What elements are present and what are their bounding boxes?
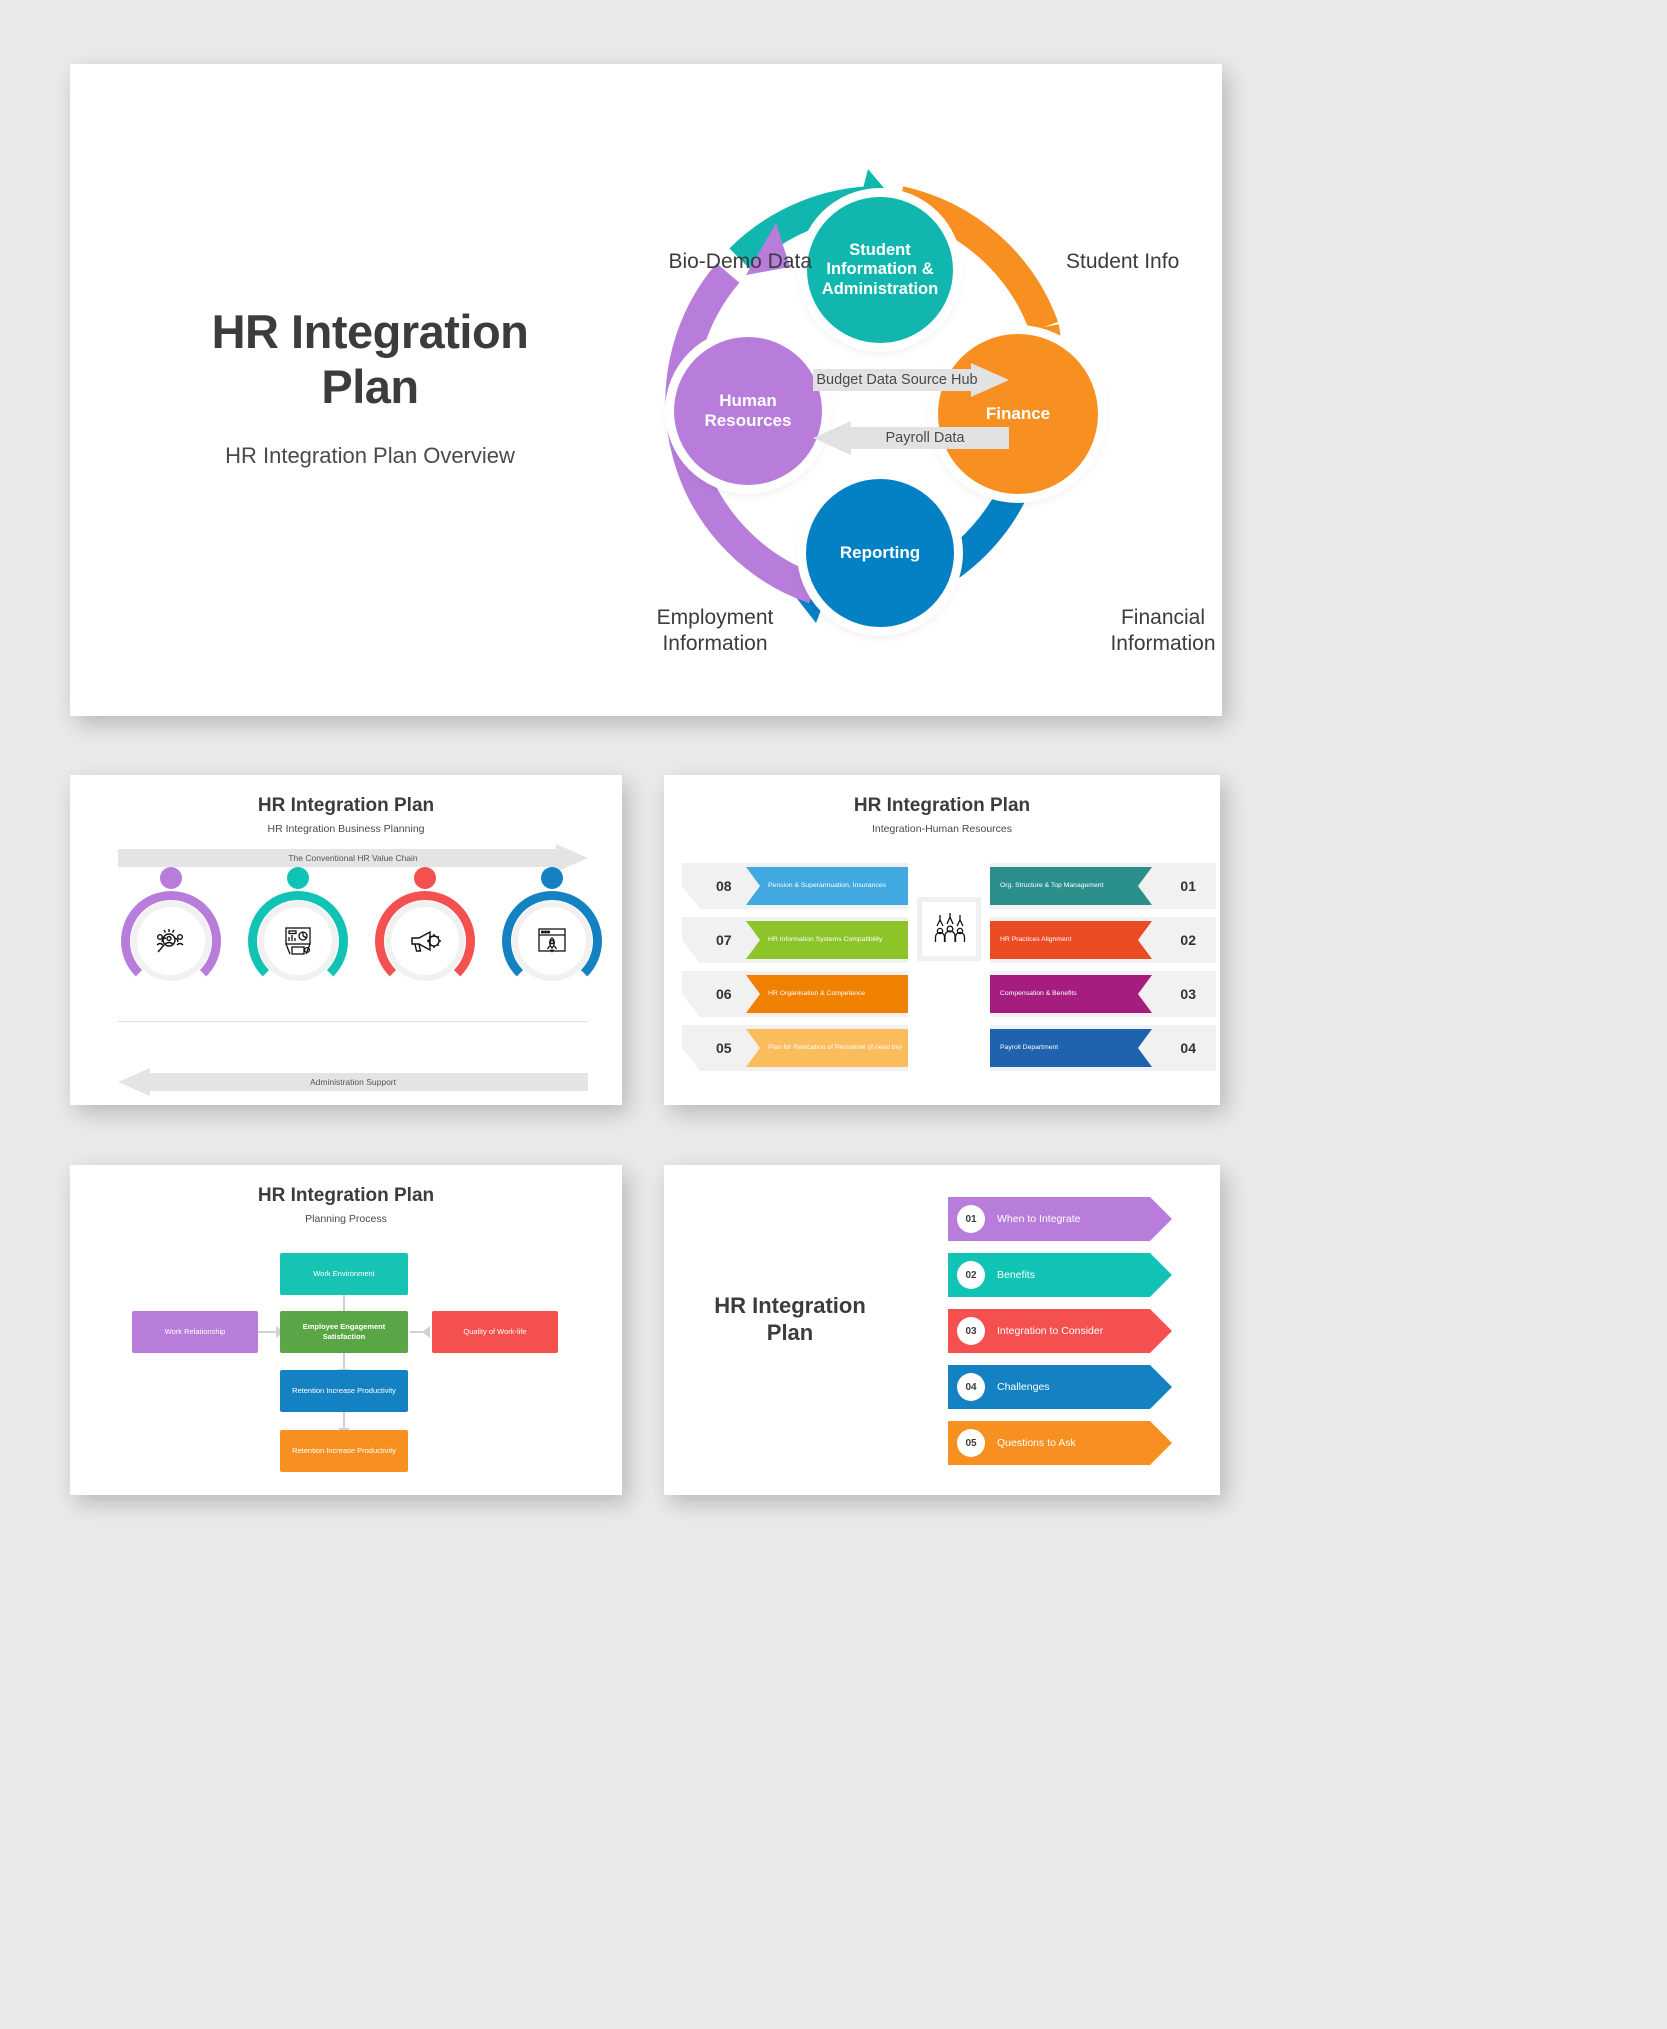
slide2-title: HR Integration Plan — [70, 795, 622, 817]
chevron-label: Org. Structure & Top Management — [990, 867, 1152, 905]
agenda-row-05[interactable]: 05 Questions to Ask — [948, 1421, 1172, 1465]
flow-arrow-left-icon — [422, 1326, 430, 1338]
flow-connector — [258, 1331, 278, 1333]
cycle-node-student-information[interactable]: Student Information & Administration — [807, 197, 953, 343]
label-bio-demo-data: Bio-Demo Data — [612, 249, 812, 275]
chevron-row-02[interactable]: 02 HR Practices Alignment — [990, 917, 1216, 963]
chevron-label: HR Organisation & Competence — [746, 975, 908, 1013]
chevron-label: Compensation & Benefits — [990, 975, 1152, 1013]
agenda-label: Benefits — [997, 1269, 1035, 1282]
value-chain-bottom-arrow: Administration Support — [118, 1073, 588, 1091]
slide-integration-human-resources[interactable]: HR Integration Plan Integration-Human Re… — [664, 775, 1220, 1105]
chevron-row-03[interactable]: 03 Compensation & Benefits — [990, 971, 1216, 1017]
flow-box-retention-1[interactable]: Retention Increase Productivity — [280, 1370, 408, 1412]
chevron-row-07[interactable]: 07 HR Information Systems Compatibility — [682, 917, 908, 963]
arrow-budget-data-source-hub: Budget Data Source Hub — [813, 363, 1009, 397]
step-dot — [287, 867, 309, 889]
agenda-number-badge: 04 — [957, 1373, 985, 1401]
agenda-number-badge: 02 — [957, 1261, 985, 1289]
agenda-number-badge: 03 — [957, 1317, 985, 1345]
flow-box-retention-2[interactable]: Retention Increase Productivity — [280, 1430, 408, 1472]
step-dot — [541, 867, 563, 889]
megaphone-gear-icon — [391, 907, 459, 975]
agenda-row-02[interactable]: 02 Benefits — [948, 1253, 1172, 1297]
flow-box-employee-engagement[interactable]: Employee Engagement Satisfaction — [280, 1311, 408, 1353]
flow-box-quality-of-work-life[interactable]: Quality of Work-life — [432, 1311, 558, 1353]
chevron-row-05[interactable]: 05 Plan for Relocation of Personnel (if … — [682, 1025, 908, 1071]
top-arrow-label: The Conventional HR Value Chain — [118, 853, 588, 863]
agenda-number-badge: 01 — [957, 1205, 985, 1233]
agenda-row-01[interactable]: 01 When to Integrate — [948, 1197, 1172, 1241]
chevron-label: Pension & Superannuation, Insurances — [746, 867, 908, 905]
chevron-number: 05 — [716, 1040, 732, 1056]
value-chain-step-staffing[interactable]: Staffing /Recruitment — [116, 867, 226, 991]
chevron-label: Payroll Department — [990, 1029, 1152, 1067]
agenda-label: Integration to Consider — [997, 1325, 1103, 1338]
flow-box-work-environment[interactable]: Work Environment — [280, 1253, 408, 1295]
browser-rocket-icon — [518, 907, 586, 975]
value-chain-step-redeploy[interactable]: Re-deploy & Exit — [497, 867, 607, 991]
slide3-subtitle: Integration-Human Resources — [664, 823, 1220, 835]
arrow-payroll-data: Payroll Data — [813, 421, 1009, 455]
people-group-icon — [917, 897, 981, 961]
slide-hr-business-planning[interactable]: HR Integration Plan HR Integration Busin… — [70, 775, 622, 1105]
chevron-row-04[interactable]: 04 Payroll Department — [990, 1025, 1216, 1071]
value-chain-step-manage[interactable]: Manage & Promote — [370, 867, 480, 991]
agenda-row-03[interactable]: 03 Integration to Consider — [948, 1309, 1172, 1353]
label-employment-information: Employment Information — [620, 605, 810, 656]
chevron-number: 02 — [1180, 932, 1196, 948]
chevron-number: 03 — [1180, 986, 1196, 1002]
slide5-title: HR Integration Plan — [690, 1293, 890, 1347]
chevron-label: HR Information Systems Compatibility — [746, 921, 908, 959]
label-student-info: Student Info — [1066, 249, 1276, 275]
integration-cycle-diagram: Student Information & Administration Fin… — [600, 119, 1160, 679]
slide3-title: HR Integration Plan — [664, 795, 1220, 817]
presentation-board-icon — [264, 907, 332, 975]
cycle-node-reporting[interactable]: Reporting — [806, 479, 954, 627]
flow-box-work-relationship[interactable]: Work Relationship — [132, 1311, 258, 1353]
bottom-arrow-label: Administration Support — [118, 1077, 588, 1087]
step-dot — [160, 867, 182, 889]
agenda-number-badge: 05 — [957, 1429, 985, 1457]
slide-agenda-arrows[interactable]: HR Integration Plan 01 When to Integrate… — [664, 1165, 1220, 1495]
agenda-label: When to Integrate — [997, 1213, 1080, 1226]
chevron-label: HR Practices Alignment — [990, 921, 1152, 959]
step-dot — [414, 867, 436, 889]
label-financial-information: Financial Information — [1068, 605, 1258, 656]
agenda-label: Challenges — [997, 1381, 1050, 1394]
hero-slide[interactable]: HR Integration Plan HR Integration Plan … — [70, 64, 1222, 716]
slide2-subtitle: HR Integration Business Planning — [70, 823, 622, 835]
page-subtitle: HR Integration Plan Overview — [160, 443, 580, 469]
chevron-label: Plan for Relocation of Personnel (if nee… — [746, 1029, 908, 1067]
recruitment-search-icon — [137, 907, 205, 975]
value-chain-step-training[interactable]: Training & Development — [243, 867, 353, 991]
hero-text-block: HR Integration Plan HR Integration Plan … — [160, 304, 580, 469]
value-chain-top-arrow: The Conventional HR Value Chain — [118, 849, 588, 867]
page-title: HR Integration Plan — [160, 304, 580, 415]
slide-planning-process[interactable]: HR Integration Plan Planning Process Wor… — [70, 1165, 622, 1495]
agenda-row-04[interactable]: 04 Challenges — [948, 1365, 1172, 1409]
cycle-node-finance[interactable]: Finance — [938, 334, 1098, 494]
chevron-number: 01 — [1180, 878, 1196, 894]
arrow-label: Payroll Data — [813, 430, 1009, 446]
slide4-title: HR Integration Plan — [70, 1185, 622, 1207]
chevron-row-06[interactable]: 06 HR Organisation & Competence — [682, 971, 908, 1017]
value-chain-connector-line — [118, 1021, 588, 1022]
slide4-subtitle: Planning Process — [70, 1213, 622, 1225]
chevron-number: 07 — [716, 932, 732, 948]
arrow-label: Budget Data Source Hub — [813, 372, 1009, 388]
agenda-label: Questions to Ask — [997, 1437, 1076, 1450]
chevron-number: 04 — [1180, 1040, 1196, 1056]
chevron-number: 08 — [716, 878, 732, 894]
chevron-row-01[interactable]: 01 Org. Structure & Top Management — [990, 863, 1216, 909]
chevron-number: 06 — [716, 986, 732, 1002]
cycle-node-human-resources[interactable]: Human Resources — [674, 337, 822, 485]
chevron-row-08[interactable]: 08 Pension & Superannuation, Insurances — [682, 863, 908, 909]
